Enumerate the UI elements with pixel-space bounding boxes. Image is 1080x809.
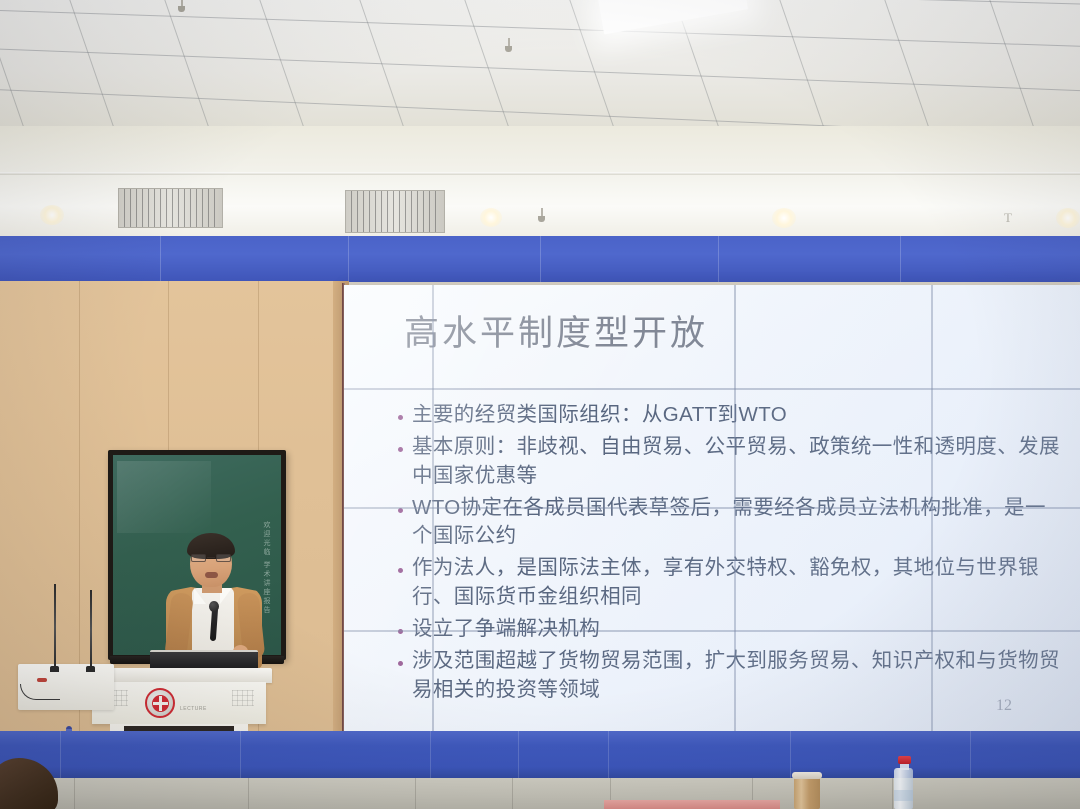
recessed-downlight: [480, 208, 502, 227]
water-bottle-cap: [898, 756, 911, 764]
bullet-text: 主要的经贸类国际组织：从GATT到WTO: [412, 401, 787, 429]
antenna-rod: [54, 584, 56, 670]
bullet-text: 基本原则：非歧视、自由贸易、公平贸易、政策统一性和透明度、发展中国家优惠等: [412, 433, 1066, 490]
bullet-text: WTO协定在各成员国代表草签后，需要经各成员立法机构批准，是一个国际公约: [412, 494, 1066, 551]
recessed-downlight: [1056, 208, 1080, 228]
sprinkler-head-icon: [178, 0, 185, 12]
bullet-text: 涉及范围超越了货物贸易范围，扩大到服务贸易、知识产权和与货物贸易相关的投资等领域: [412, 647, 1066, 704]
ceiling-tile-grid: [0, 0, 1080, 128]
hvac-vent: [118, 188, 223, 228]
paper-cup-lid: [792, 772, 822, 779]
ceiling: [0, 0, 1080, 128]
soffit-edge: [0, 172, 1080, 175]
antenna-base: [86, 666, 95, 672]
antenna-rod: [90, 590, 92, 670]
paper-cup: [794, 776, 820, 809]
slide-page-number: 12: [996, 697, 1012, 715]
lecture-hall-scene: T 欢迎光临 学术讲座报告: [0, 0, 1080, 809]
panel-bezel-seam: [344, 388, 1080, 390]
presenter-mouth: [205, 572, 218, 578]
ceiling-tee-mark: T: [1004, 210, 1012, 226]
microphone-head-icon: [209, 601, 219, 612]
podium-label-text: LECTURE: [180, 706, 207, 712]
upper-wall-blue-band: [0, 236, 1080, 282]
list-item: 主要的经贸类国际组织：从GATT到WTO: [398, 401, 1066, 429]
list-item: 作为法人，是国际法主体，享有外交特权、豁免权，其地位与世界银行、国际货币金组织相…: [398, 554, 1066, 611]
bullet-dot-icon: [398, 447, 403, 452]
panel-bezel-seam: [344, 507, 1080, 509]
bullet-dot-icon: [398, 415, 403, 420]
slide-bullet-list: 主要的经贸类国际组织：从GATT到WTO 基本原则：非歧视、自由贸易、公平贸易、…: [398, 401, 1066, 708]
presenter: [160, 533, 270, 668]
lower-wall-blue-band: [0, 731, 1080, 779]
bullet-dot-icon: [398, 508, 403, 513]
water-bottle: [894, 768, 913, 809]
recessed-downlight: [40, 205, 64, 225]
antenna-base: [50, 666, 59, 672]
eyeglasses-icon: [191, 554, 231, 562]
podium-monitor: [150, 650, 258, 670]
slide-title: 高水平制度型开放: [404, 305, 708, 356]
university-emblem-icon: [145, 688, 175, 718]
panel-bezel-seam: [344, 630, 1080, 632]
chalkboard-glare: [117, 461, 211, 533]
bullet-text: 作为法人，是国际法主体，享有外交特权、豁免权，其地位与世界银行、国际货币金组织相…: [412, 554, 1066, 611]
bullet-dot-icon: [398, 568, 403, 573]
sprinkler-head-icon: [505, 38, 512, 52]
recessed-downlight: [772, 208, 796, 228]
sprinkler-head-icon: [538, 208, 545, 222]
water-bottle-label: [894, 790, 913, 801]
list-item: 基本原则：非歧视、自由贸易、公平贸易、政策统一性和透明度、发展中国家优惠等: [398, 433, 1066, 490]
foreground-table-edge: [604, 800, 780, 809]
list-item: 涉及范围超越了货物贸易范围，扩大到服务贸易、知识产权和与货物贸易相关的投资等领域: [398, 647, 1066, 704]
hvac-vent: [345, 190, 445, 233]
wall-baseboard: [0, 778, 1080, 809]
led-video-wall[interactable]: 高水平制度型开放 主要的经贸类国际组织：从GATT到WTO 基本原则：非歧视、自…: [344, 285, 1080, 731]
list-item: WTO协定在各成员国代表草签后，需要经各成员立法机构批准，是一个国际公约: [398, 494, 1066, 551]
bullet-dot-icon: [398, 661, 403, 666]
cable-connector: [37, 678, 47, 682]
podium-speaker-grill-right: [232, 690, 254, 706]
